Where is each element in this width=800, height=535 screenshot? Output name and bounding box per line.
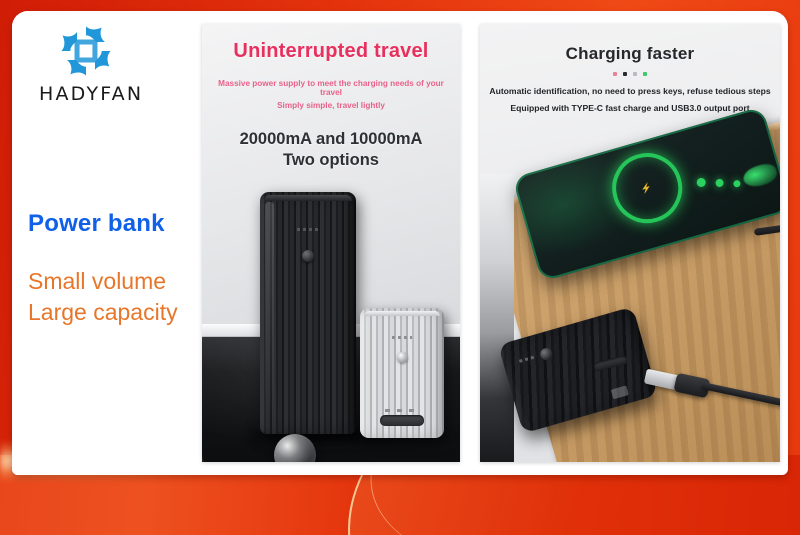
dot-pink bbox=[613, 72, 617, 76]
brand-subline: Small volume Large capacity bbox=[28, 266, 178, 328]
left-panel-subtitle-1: Massive power supply to meet the chargin… bbox=[208, 79, 454, 97]
brand-subline-2: Large capacity bbox=[28, 297, 178, 328]
product-photo-panel-left: Uninterrupted travel Massive power suppl… bbox=[202, 24, 460, 462]
desk-bank-port-slot bbox=[593, 355, 628, 372]
white-content-card: HADYFAN Power bank Small volume Large ca… bbox=[12, 11, 788, 475]
left-panel-subtitle-2: Simply simple, travel lightly bbox=[208, 101, 454, 110]
silver-bank-led-indicators bbox=[392, 336, 412, 339]
brand-subline-1: Small volume bbox=[28, 266, 178, 297]
desk-bank-led-indicators bbox=[519, 355, 537, 363]
brand-logo-block: HADYFAN bbox=[38, 23, 178, 105]
banner-root: HADYFAN Power bank Small volume Large ca… bbox=[0, 0, 800, 535]
right-panel-feature-line-2: Equipped with TYPE-C fast charge and USB… bbox=[484, 103, 776, 113]
right-panel-feature-line-1: Automatic identification, no need to pre… bbox=[484, 86, 776, 96]
page-title: Power bank bbox=[28, 210, 165, 238]
fan-pinwheel-logo-icon bbox=[58, 23, 114, 79]
silver-bank-power-button bbox=[397, 352, 408, 363]
background-wall-strip bbox=[480, 174, 514, 462]
charge-dot-1 bbox=[696, 177, 707, 188]
charge-energy-blob bbox=[741, 161, 779, 190]
silver-bank-port-markers bbox=[385, 409, 419, 412]
silver-ribbed-power-bank bbox=[360, 308, 444, 438]
black-bank-power-button bbox=[302, 250, 314, 262]
spec-options-line: Two options bbox=[202, 150, 460, 171]
right-panel-title: Charging faster bbox=[480, 44, 780, 64]
left-panel-spec: 20000mA and 10000mA Two options bbox=[202, 129, 460, 171]
left-panel-title: Uninterrupted travel bbox=[202, 40, 460, 63]
black-ribbed-power-bank bbox=[260, 192, 356, 434]
brand-name: HADYFAN bbox=[38, 83, 178, 105]
black-bank-reflection bbox=[265, 202, 274, 422]
charge-dot-2 bbox=[715, 178, 725, 188]
desk-bank-side-label bbox=[611, 385, 629, 399]
charge-dot-3 bbox=[733, 179, 742, 188]
dot-grey bbox=[633, 72, 637, 76]
desk-bank-power-button bbox=[539, 347, 554, 362]
dot-green bbox=[643, 72, 647, 76]
silver-bank-port-strip bbox=[380, 415, 424, 426]
product-photo-panel-right: Charging faster Automatic identification… bbox=[480, 24, 780, 462]
spec-capacity-line: 20000mA and 10000mA bbox=[202, 129, 460, 150]
black-bank-led-indicators bbox=[297, 228, 319, 231]
dot-dark bbox=[623, 72, 627, 76]
color-dot-indicators bbox=[480, 72, 780, 76]
brand-column: HADYFAN Power bank Small volume Large ca… bbox=[12, 11, 202, 475]
